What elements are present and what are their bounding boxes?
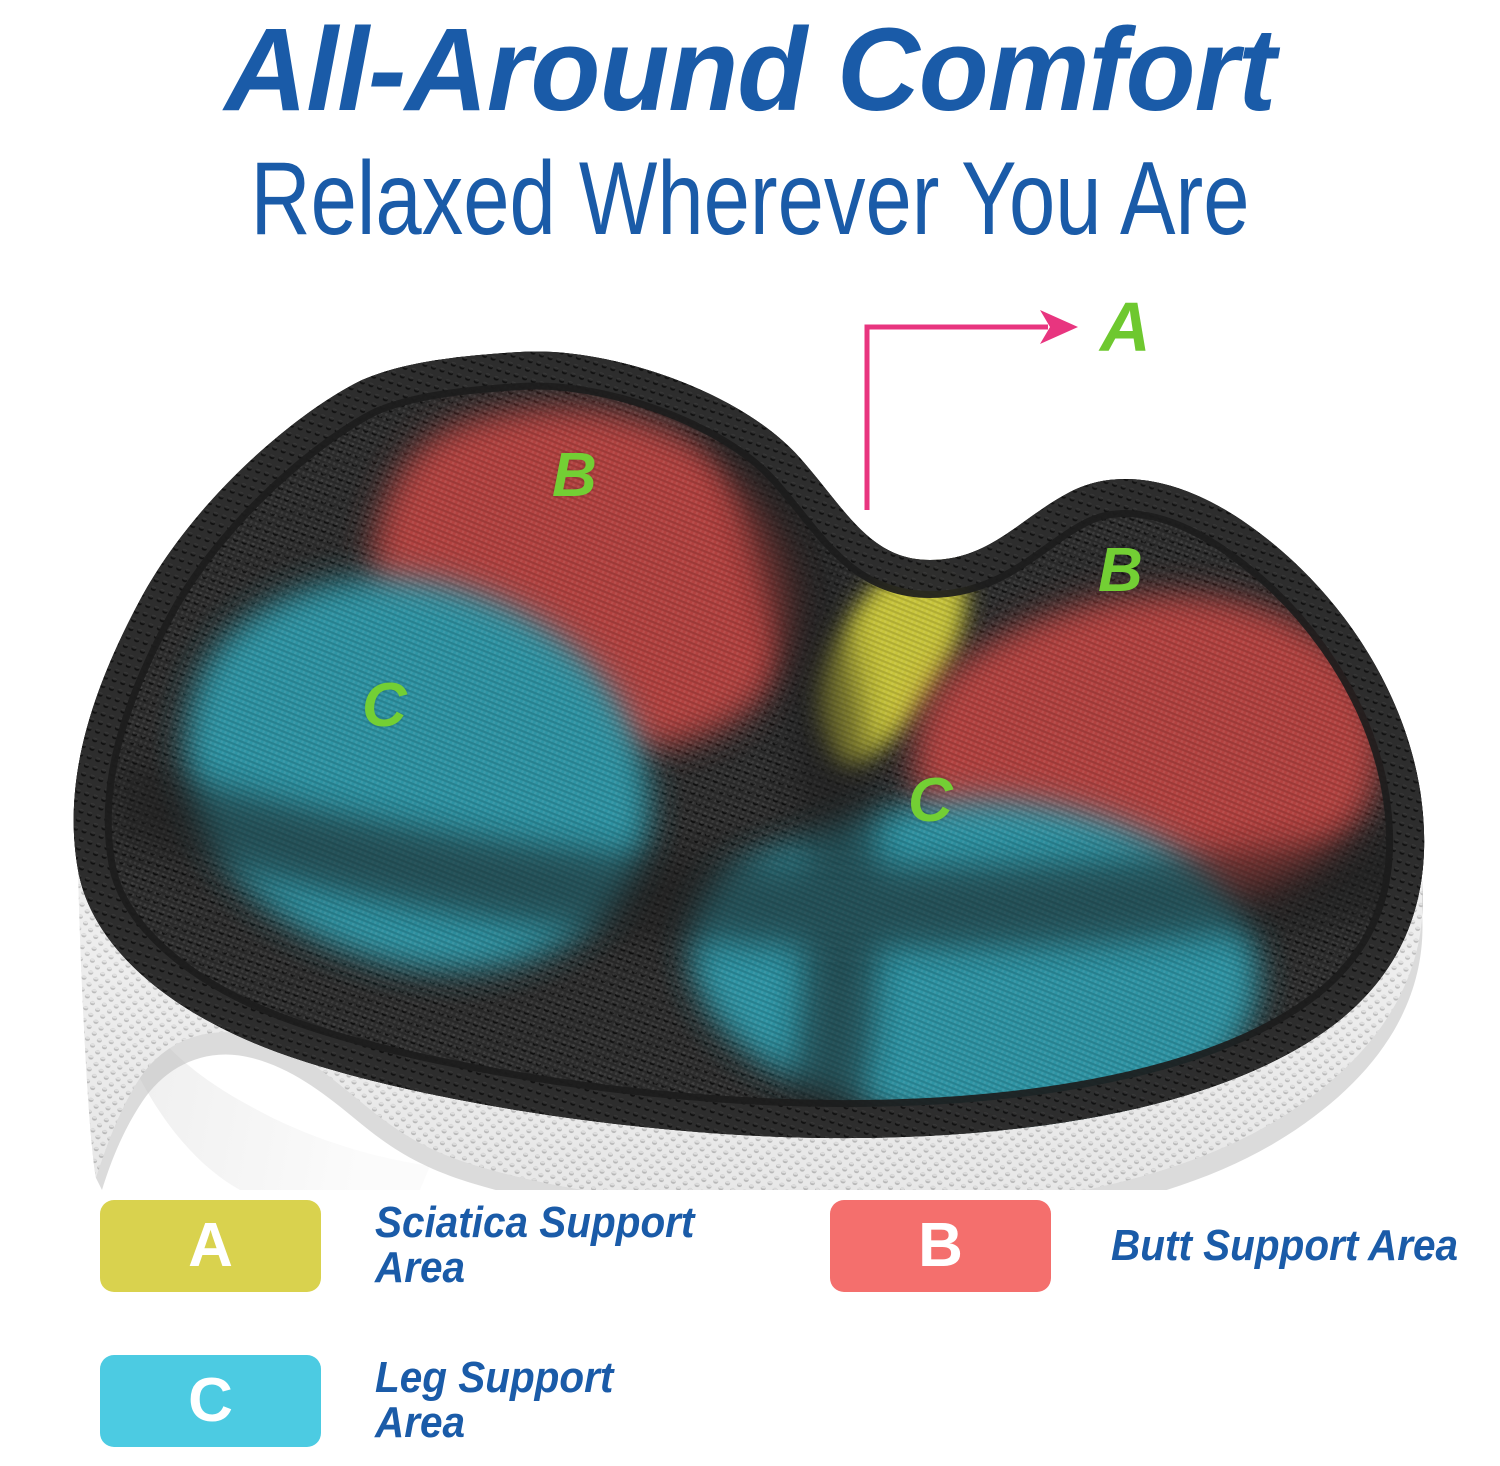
zone-letter-b-left: B	[552, 445, 597, 507]
callout-arrow-line	[867, 327, 1048, 510]
callout-label-a: A	[1100, 292, 1151, 362]
support-zones	[74, 351, 1430, 1140]
legend-item-a: A Sciatica Support Area	[100, 1200, 740, 1292]
legend-label-c: Leg Support Area	[375, 1356, 711, 1446]
legend-item-c: C Leg Support Area	[100, 1355, 740, 1447]
page-subheadline: Relaxed Wherever You Are	[150, 143, 1350, 255]
callout-arrow	[867, 310, 1078, 510]
legend-item-b: B Butt Support Area	[830, 1200, 1490, 1292]
zone-letter-b-right: B	[1098, 540, 1143, 602]
page-headline: All-Around Comfort	[23, 0, 1478, 140]
legend-badge-c: C	[100, 1355, 321, 1447]
zone-letter-c-left: C	[362, 675, 407, 737]
zone-letter-c-right: C	[908, 770, 953, 832]
legend-label-a: Sciatica Support Area	[375, 1201, 694, 1291]
product-illustration: A B B C C	[0, 260, 1500, 1190]
legend-badge-b: B	[830, 1200, 1051, 1292]
legend-label-b: Butt Support Area	[1111, 1224, 1458, 1269]
cushion-top-surface	[74, 351, 1430, 1140]
seat-cushion-graphic	[0, 260, 1500, 1190]
support-area-legend: A Sciatica Support Area B Butt Support A…	[0, 1190, 1500, 1466]
legend-badge-a: A	[100, 1200, 321, 1292]
